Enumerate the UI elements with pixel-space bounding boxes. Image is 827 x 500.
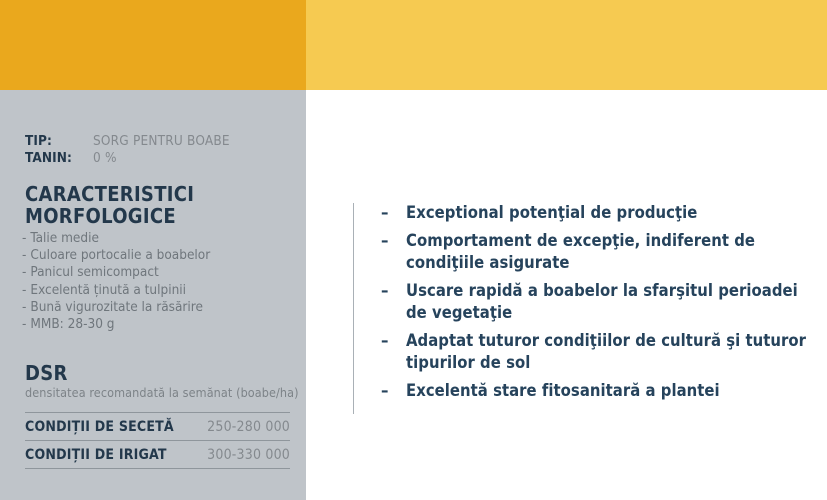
list-item-label: Bună vigurozitate la răsărire [30,299,203,315]
table-row: CONDIȚII DE SECETĂ 250-280 000 [25,412,290,440]
bullet-dash-icon: - [22,247,26,263]
list-item-label: Culoare portocalie a boabelor [30,247,210,263]
benefits-list: –Exceptional potenţial de producţie –Com… [381,202,811,407]
list-item-label: Excelentă ținută a tulpinii [30,282,186,298]
list-item-label: Exceptional potenţial de producţie [406,203,697,222]
bullet-dash-icon: – [381,330,388,353]
list-item: –Exceptional potenţial de producţie [381,202,811,225]
bullet-dash-icon: - [22,316,26,332]
table-cell-value: 300-330 000 [207,447,290,463]
dsr-title: DSR [25,362,68,384]
meta-row-tip: TIP: SORG PENTRU BOABE [25,133,230,150]
bullet-dash-icon: – [381,380,388,403]
bullet-dash-icon: – [381,202,388,225]
list-item: -Talie medie [22,230,297,247]
list-item: –Uscare rapidă a boabelor la sfarşitul p… [381,280,811,325]
meta-block: TIP: SORG PENTRU BOABE TANIN: 0 % [25,133,230,167]
list-item-label: Adaptat tuturor condiţiilor de cultură ş… [406,331,806,373]
bullet-dash-icon: - [22,264,26,280]
bullet-dash-icon: - [22,282,26,298]
list-item-label: Panicul semicompact [30,264,158,280]
meta-value-tip: SORG PENTRU BOABE [93,133,230,150]
list-item: -MMB: 28-30 g [22,316,297,333]
dsr-subtitle: densitatea recomandată la semănat (boabe… [25,385,299,400]
morphology-list: -Talie medie -Culoare portocalie a boabe… [22,230,297,333]
bullet-dash-icon: – [381,230,388,253]
list-item: -Excelentă ținută a tulpinii [22,282,297,299]
bullet-dash-icon: - [22,230,26,246]
meta-label-tip: TIP: [25,133,93,150]
list-item-label: Talie medie [30,230,99,246]
list-item: –Comportament de excepţie, indiferent de… [381,230,811,275]
meta-row-tanin: TANIN: 0 % [25,150,230,167]
list-item-label: Uscare rapidă a boabelor la sfarşitul pe… [406,281,798,323]
morphology-heading: CARACTERISTICI MORFOLOGICE [25,183,291,227]
list-item-label: MMB: 28-30 g [30,316,114,332]
table-cell-value: 250-280 000 [207,419,290,435]
list-item: -Bună vigurozitate la răsărire [22,299,297,316]
header-band [0,0,827,90]
density-table: CONDIȚII DE SECETĂ 250-280 000 CONDIȚII … [25,412,290,469]
list-item: –Excelentă stare fitosanitară a plantei [381,380,811,403]
table-cell-label: CONDIȚII DE SECETĂ [25,419,174,435]
list-item-label: Comportament de excepţie, indiferent de … [406,231,755,273]
bullet-dash-icon: - [22,299,26,315]
header-band-secondary [306,0,827,90]
meta-label-tanin: TANIN: [25,150,93,167]
morphology-heading-line-2: MORFOLOGICE [25,205,291,227]
list-item-label: Excelentă stare fitosanitară a plantei [406,381,720,400]
table-cell-label: CONDIȚII DE IRIGAT [25,447,167,463]
list-item: -Panicul semicompact [22,264,297,281]
morphology-heading-line-1: CARACTERISTICI [25,183,291,205]
bullet-dash-icon: – [381,280,388,303]
list-item: –Adaptat tuturor condiţiilor de cultură … [381,330,811,375]
header-band-primary [0,0,306,90]
list-item: -Culoare portocalie a boabelor [22,247,297,264]
specification-panel: TIP: SORG PENTRU BOABE TANIN: 0 % CARACT… [0,90,306,500]
meta-value-tanin: 0 % [93,150,117,167]
table-row: CONDIȚII DE IRIGAT 300-330 000 [25,440,290,469]
benefits-vertical-rule [353,203,354,414]
